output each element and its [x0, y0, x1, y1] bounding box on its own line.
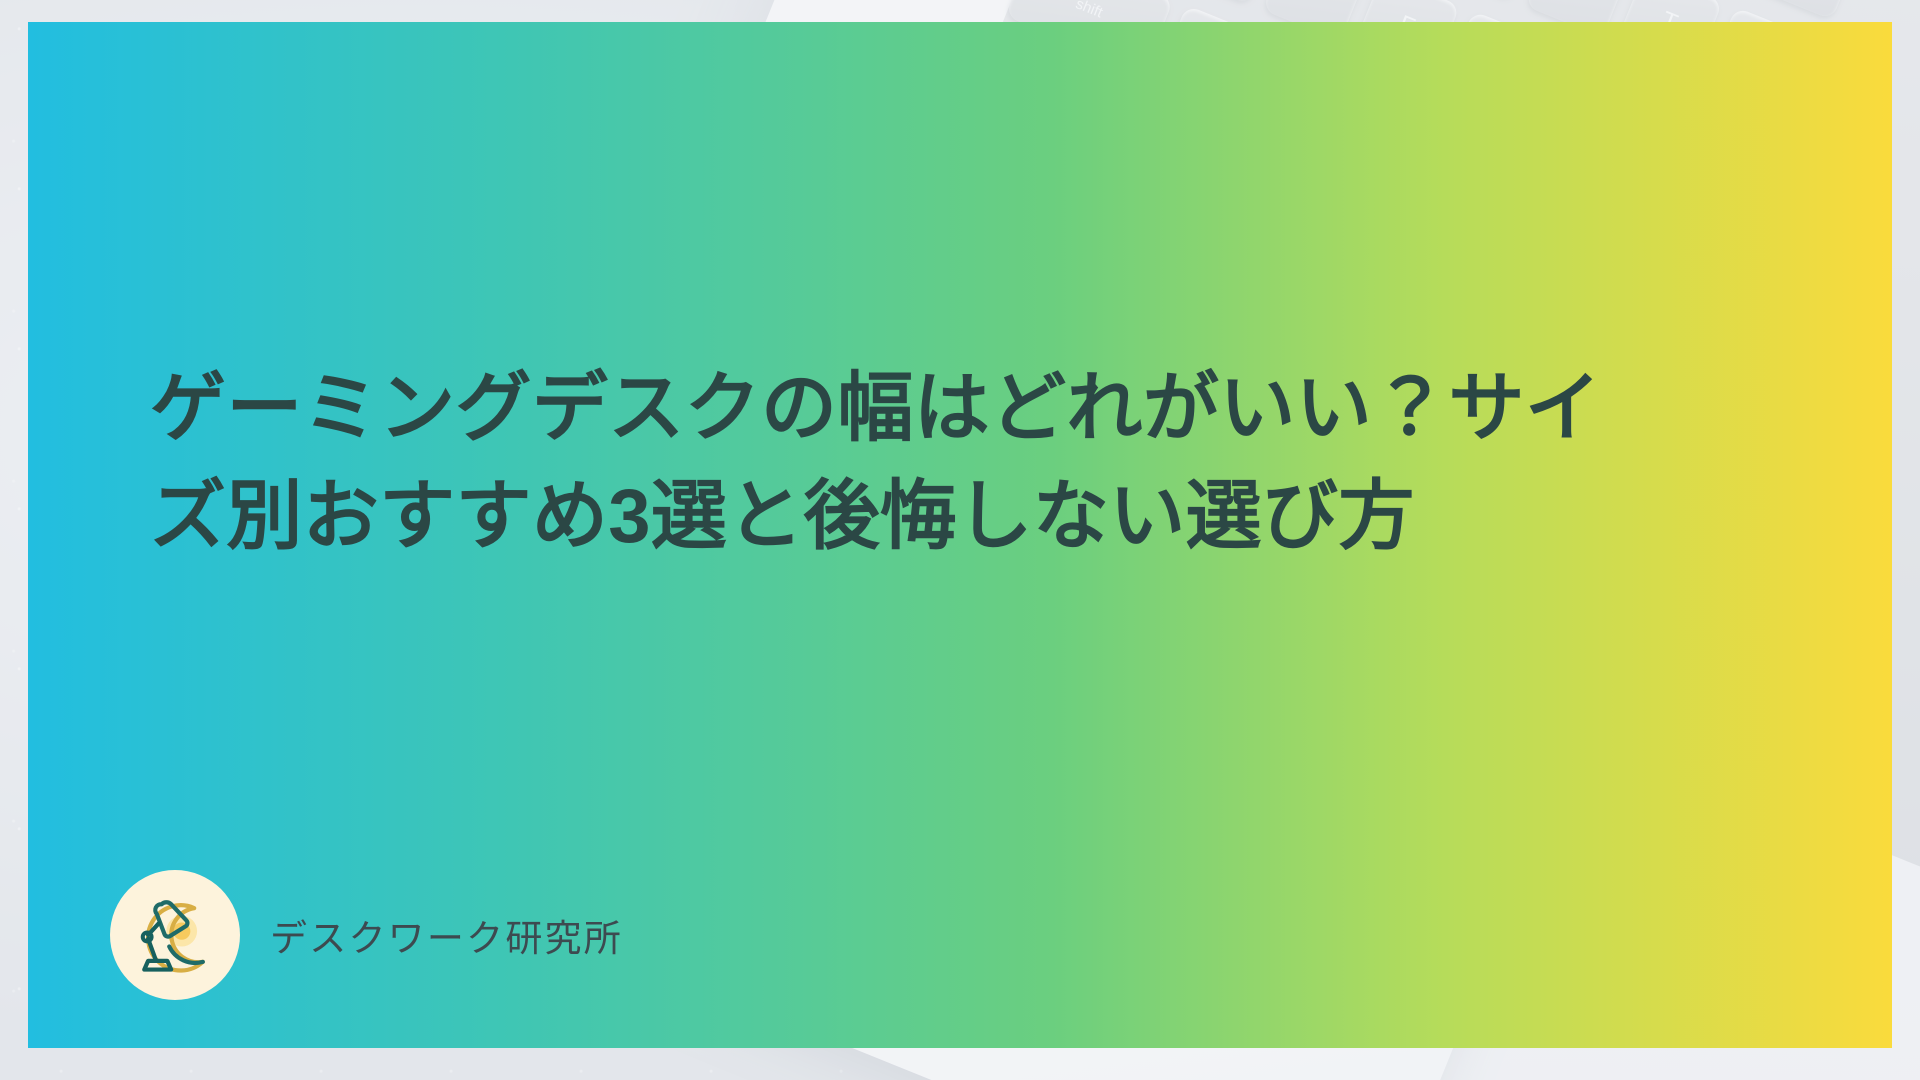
eyecatch-canvas: tab123456caps lockQWERTYASDFGHJshiftZXCV… [0, 0, 1920, 1080]
brand-name: デスクワーク研究所 [270, 908, 623, 962]
brand-lockup: デスクワーク研究所 [110, 870, 623, 1000]
page-title: ゲーミングデスクの幅はどれがいい？サイズ別おすすめ3選と後悔しない選び方 [150, 355, 1670, 571]
desk-lamp-moon-icon [110, 870, 240, 1000]
